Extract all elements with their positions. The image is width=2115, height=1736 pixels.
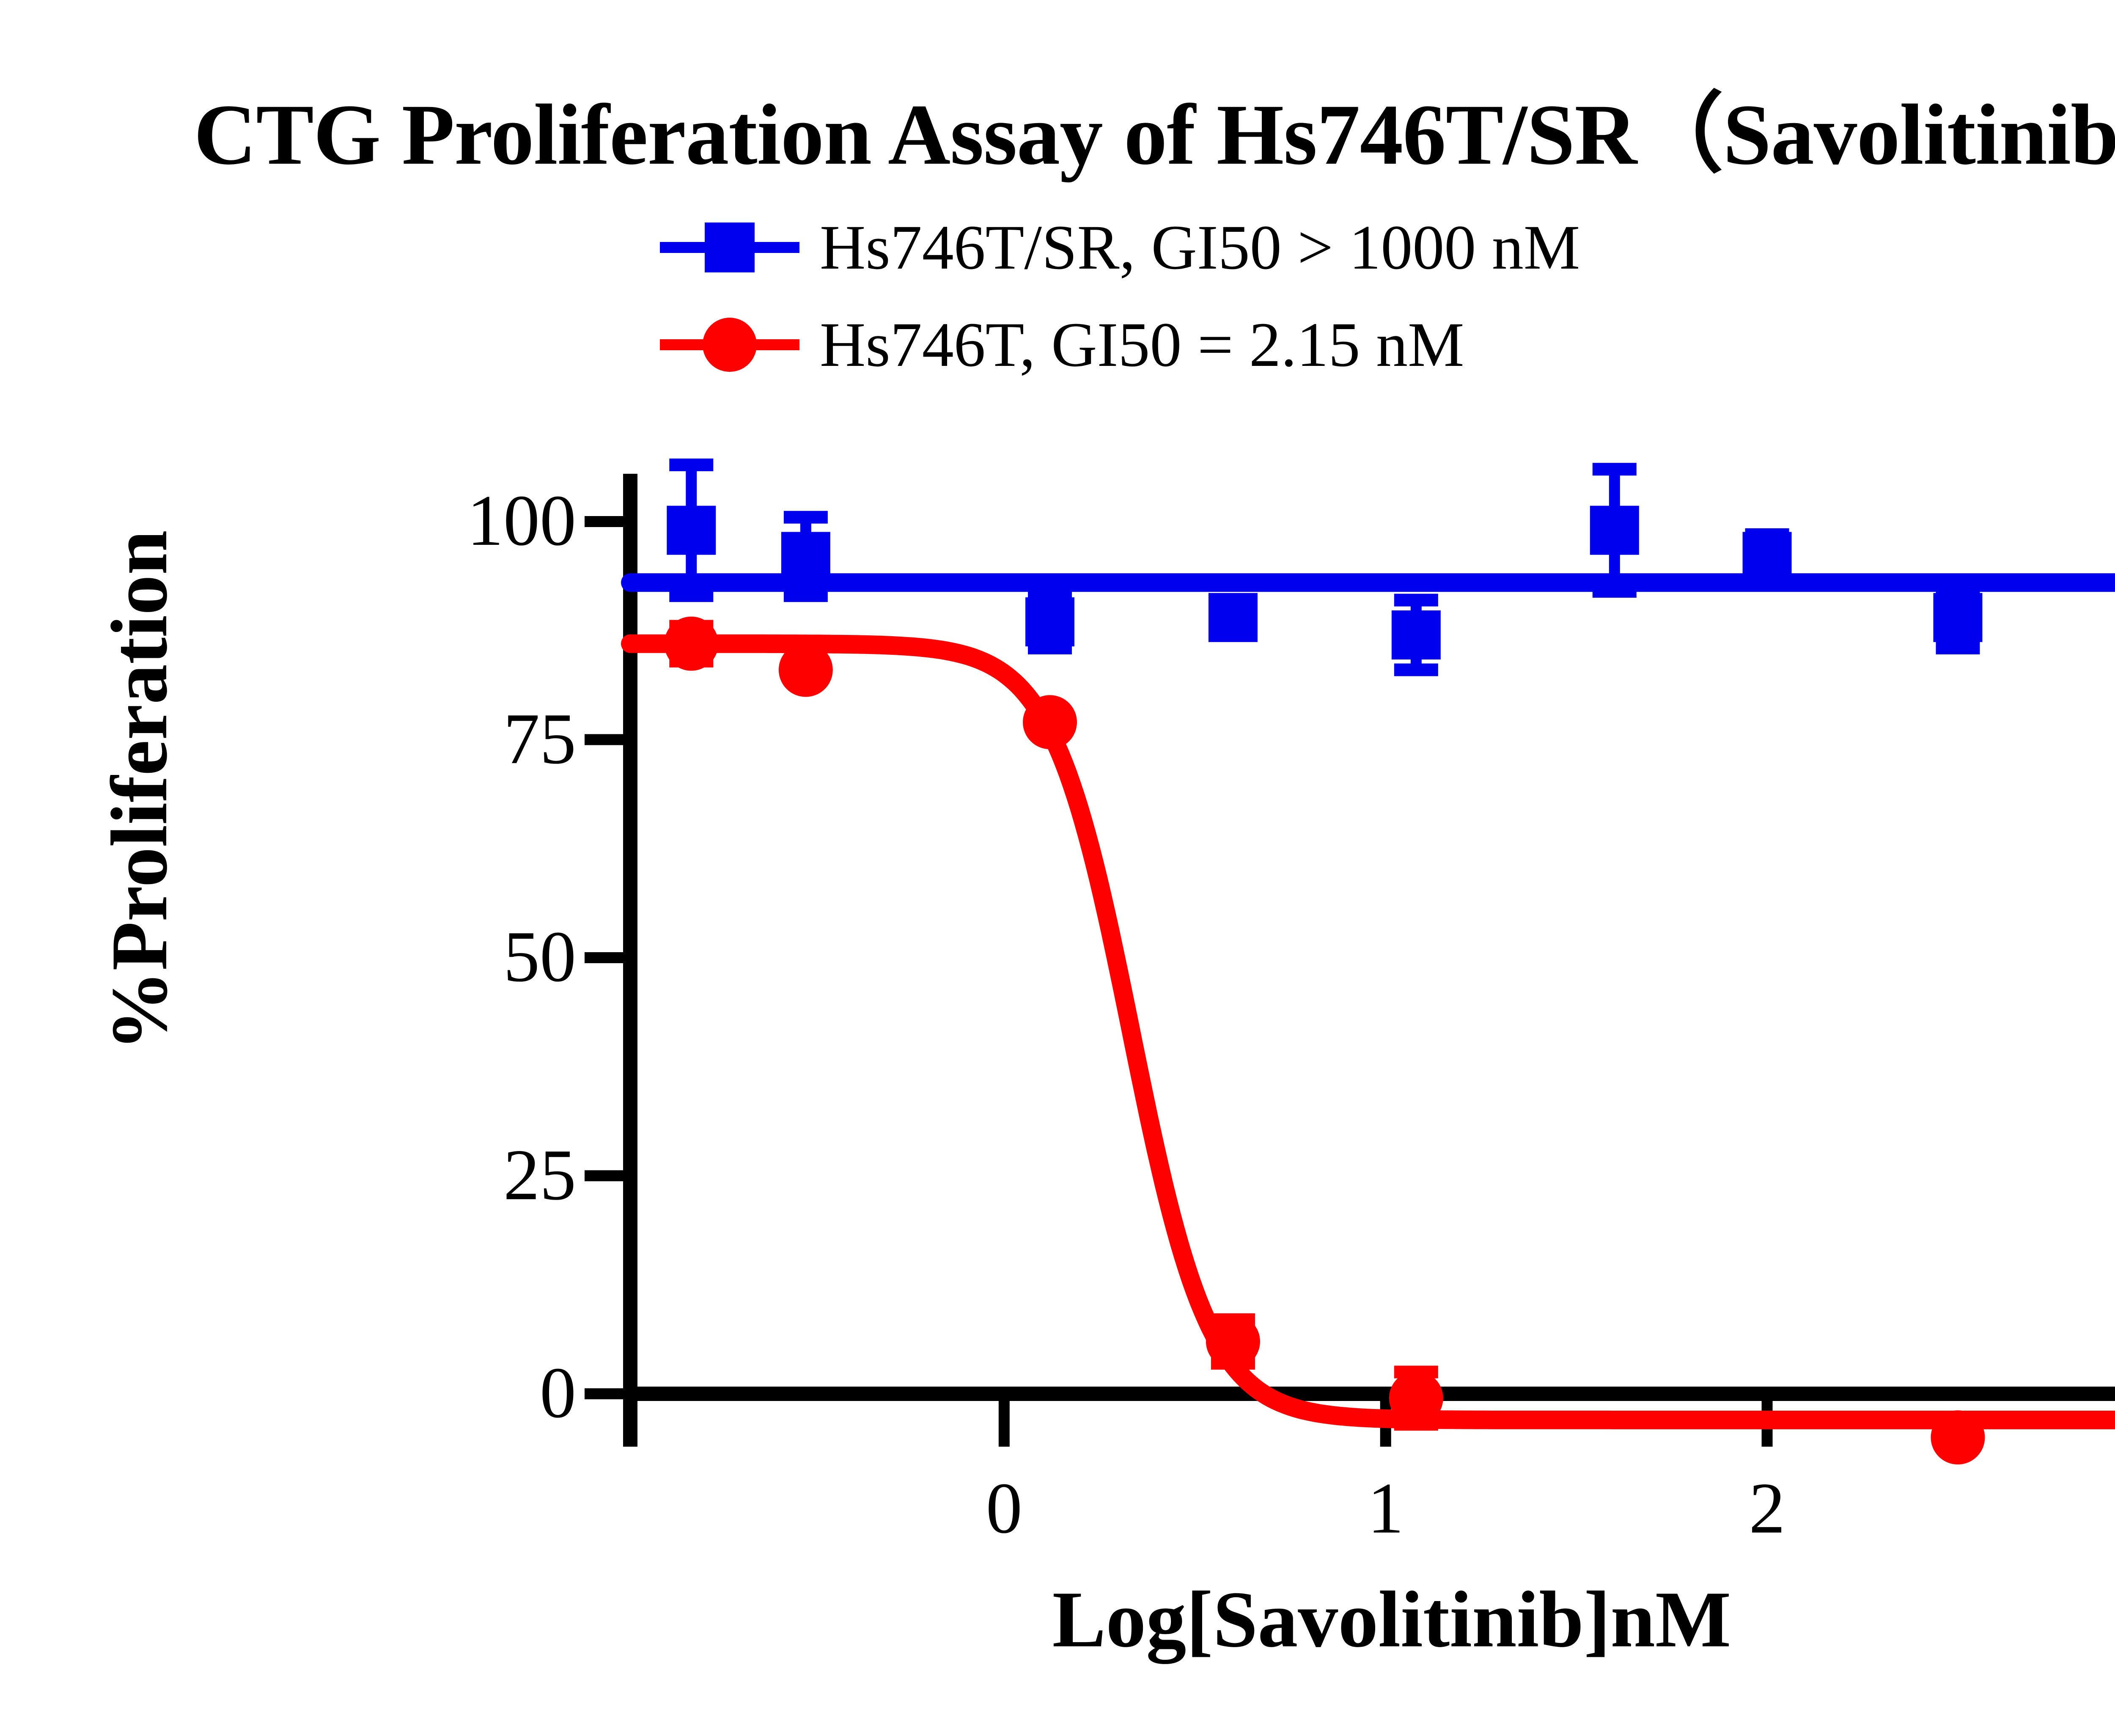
x-tick-label: 2 bbox=[1704, 1472, 1831, 1545]
data-point-square bbox=[781, 532, 830, 581]
axis-layer bbox=[585, 474, 2115, 1447]
series-parental bbox=[630, 617, 2115, 1464]
data-point-circle bbox=[1389, 1371, 1443, 1425]
data-point-square bbox=[1025, 597, 1074, 646]
data-point-circle bbox=[779, 643, 833, 697]
x-tick-label: 0 bbox=[941, 1472, 1068, 1545]
data-point-circle bbox=[1023, 695, 1077, 749]
data-point-circle bbox=[1206, 1314, 1260, 1368]
data-point-square bbox=[1392, 610, 1441, 659]
fit-curve bbox=[630, 644, 2115, 1420]
y-tick-label: 0 bbox=[398, 1357, 576, 1429]
y-tick-label: 75 bbox=[398, 703, 576, 775]
data-point-square bbox=[667, 506, 716, 555]
chart-figure: CTG Proliferation Assay of Hs746T/SR（Sav… bbox=[0, 0, 2115, 1736]
x-tick-label: 3 bbox=[2085, 1472, 2115, 1545]
data-point-circle bbox=[664, 617, 718, 671]
x-tick-label: 1 bbox=[1322, 1472, 1449, 1545]
data-point-square bbox=[1590, 506, 1639, 555]
y-tick-label: 100 bbox=[398, 484, 576, 557]
data-point-square bbox=[1933, 593, 1982, 642]
series-layer bbox=[630, 465, 2115, 1464]
data-point-square bbox=[1209, 593, 1258, 642]
y-tick-label: 50 bbox=[398, 920, 576, 993]
data-point-square bbox=[1743, 532, 1792, 581]
y-tick-label: 25 bbox=[398, 1139, 576, 1211]
data-point-circle bbox=[1931, 1410, 1985, 1464]
